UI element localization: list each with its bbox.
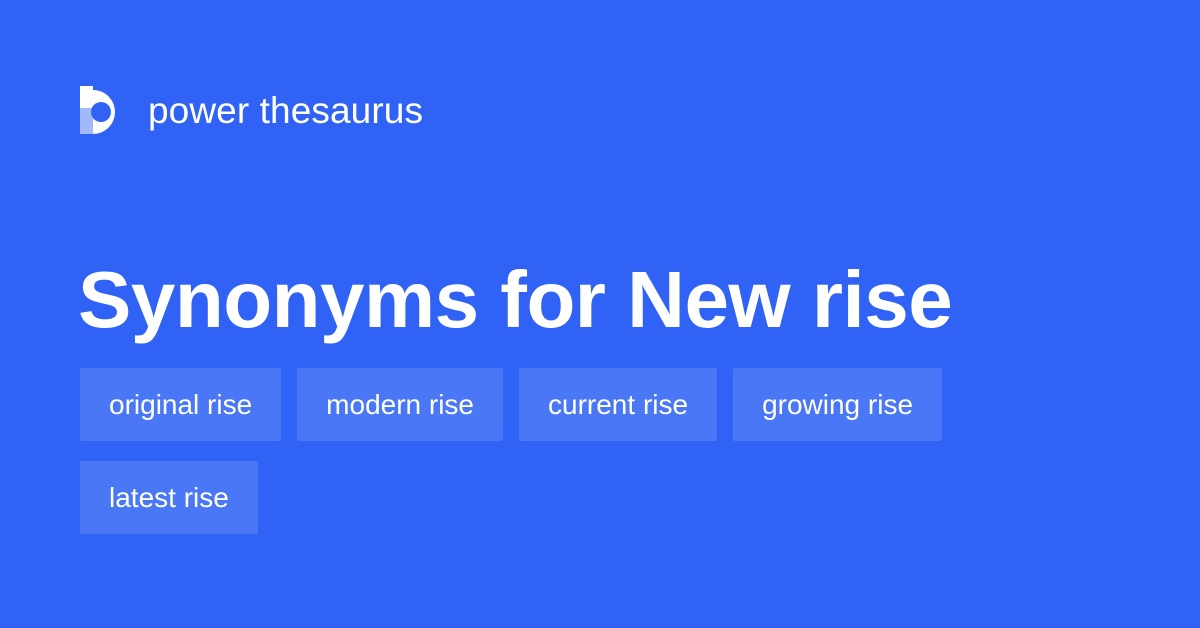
brand-name: power thesaurus — [148, 92, 423, 129]
synonym-chip[interactable]: modern rise — [297, 368, 503, 441]
power-thesaurus-logo-icon — [80, 86, 124, 134]
share-card: power thesaurus Synonyms for New rise or… — [0, 0, 1200, 628]
synonym-list: original rise modern rise current rise g… — [80, 368, 1120, 534]
synonym-chip[interactable]: growing rise — [733, 368, 942, 441]
synonym-chip[interactable]: current rise — [519, 368, 717, 441]
page-title: Synonyms for New rise — [78, 253, 952, 347]
brand-header[interactable]: power thesaurus — [80, 82, 423, 138]
synonym-chip[interactable]: original rise — [80, 368, 281, 441]
synonym-chip[interactable]: latest rise — [80, 461, 258, 534]
